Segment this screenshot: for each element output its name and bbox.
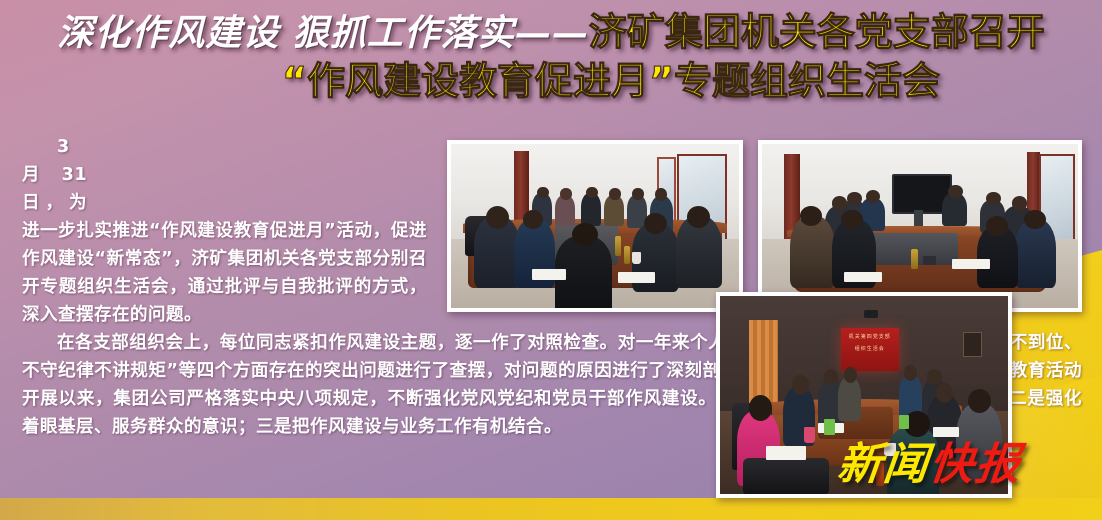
news-poster: 深化作风建设 狠抓工作落实——济矿集团机关各党支部召开 “作风建设教育促进月”专…	[0, 0, 1102, 520]
headline-line-2: “作风建设教育促进月”专题组织生活会	[0, 59, 1102, 104]
headline-white-text: 深化作风建设 狠抓工作落实——	[57, 12, 589, 54]
screen-text-line-1: 机关第四党支部	[841, 333, 899, 340]
headline-yellow-text: 济矿集团机关各党支部召开	[589, 10, 1045, 54]
gold-bottom-band	[0, 498, 1102, 520]
screen-text-line-2: 组织生活会	[841, 345, 899, 352]
meeting-photo-2	[758, 140, 1082, 312]
stamp-yellow-text: 新闻	[835, 439, 932, 490]
news-flash-stamp: 新闻快报	[835, 428, 1026, 492]
stamp-red-text: 快报	[927, 439, 1024, 490]
poster-headline: 深化作风建设 狠抓工作落实——济矿集团机关各党支部召开 “作风建设教育促进月”专…	[0, 10, 1102, 104]
headline-line-1: 深化作风建设 狠抓工作落实——济矿集团机关各党支部召开	[0, 10, 1102, 55]
headline-yellow-text-2: “作风建设教育促进月”专题组织生活会	[282, 59, 940, 103]
photo-wrap-spacer-bottom	[97, 133, 427, 193]
projection-screen: 机关第四党支部 组织生活会	[841, 328, 899, 372]
meeting-photo-1	[447, 140, 743, 312]
